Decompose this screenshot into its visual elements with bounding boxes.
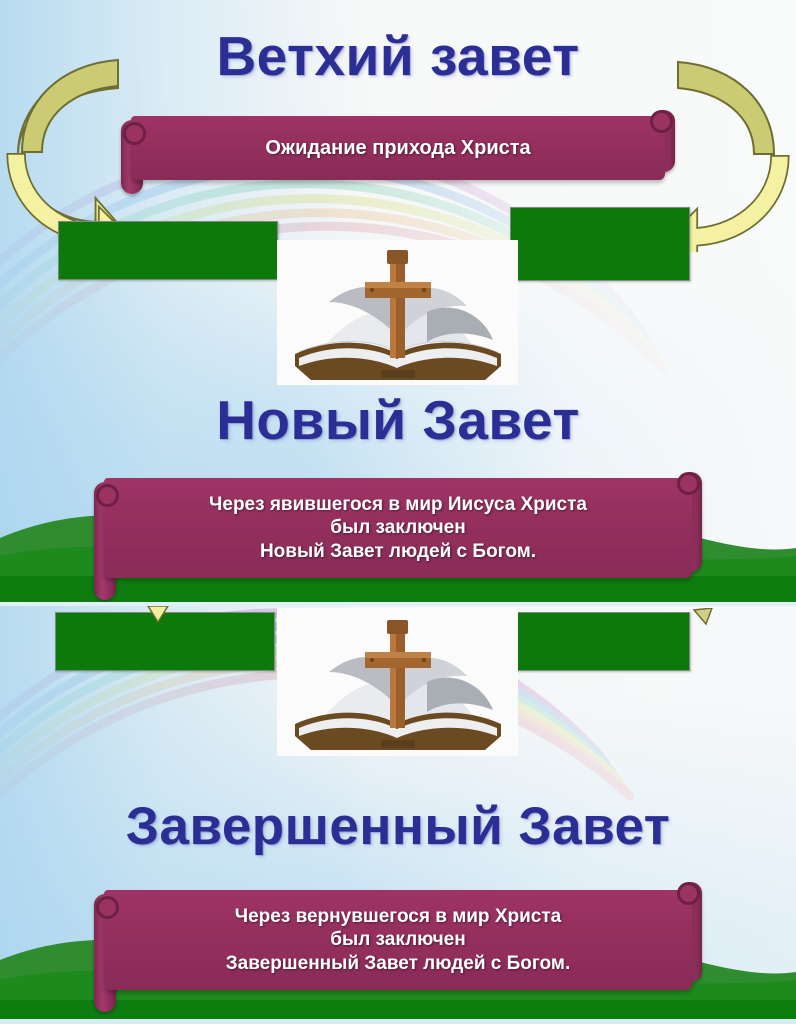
bible-with-cross-icon — [277, 240, 518, 385]
placeholder-box-left[interactable] — [58, 221, 278, 280]
scroll-right-curl-icon — [677, 472, 700, 495]
placeholder-box-left[interactable] — [55, 612, 275, 671]
scroll-banner-completed-testament: Через вернувшегося в мир Христа был закл… — [86, 890, 710, 990]
scroll-banner-text: Через вернувшегося в мир Христа был закл… — [130, 890, 666, 990]
scroll-left-curl-icon — [123, 122, 146, 145]
slide-bottom-hem — [0, 1019, 796, 1024]
slide-subtitle-new-testament: Новый Завет — [0, 388, 796, 452]
presentation-stage: Ветхий завет Ожидание п — [0, 0, 796, 1024]
placeholder-box-right[interactable] — [510, 612, 690, 671]
slide-title-old-testament: Ветхий завет — [0, 24, 796, 88]
scroll-banner-new-testament: Через явившегося в мир Иисуса Христа был… — [86, 478, 710, 578]
scroll-right-curl-icon — [650, 110, 673, 133]
scroll-banner-old-testament: Ожидание прихода Христа — [113, 116, 683, 180]
scroll-banner-text: Ожидание прихода Христа — [157, 116, 639, 180]
slide-old-testament[interactable]: Ветхий завет Ожидание п — [0, 0, 796, 602]
slide-completed-testament[interactable]: Завершенный Завет Через вернувшегося в м… — [0, 606, 796, 1024]
scroll-right-curl-icon — [677, 882, 700, 905]
scroll-banner-text: Через явившегося в мир Иисуса Христа был… — [130, 478, 666, 578]
placeholder-box-right[interactable] — [510, 207, 690, 281]
bible-with-cross-icon — [277, 608, 518, 756]
slide-title-completed-testament: Завершенный Завет — [0, 796, 796, 857]
scroll-left-curl-icon — [96, 896, 119, 919]
scroll-left-curl-icon — [96, 484, 119, 507]
